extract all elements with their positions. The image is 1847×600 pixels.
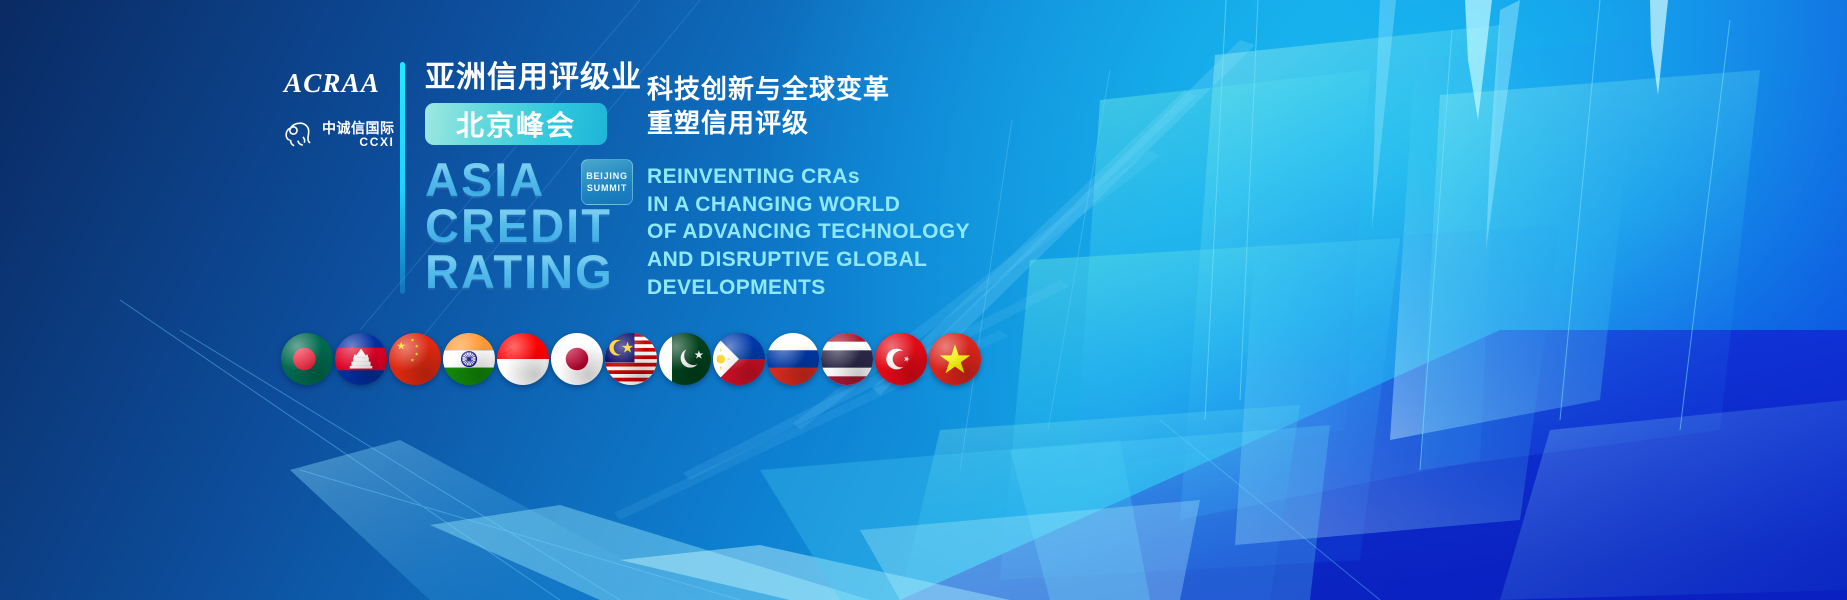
summit-badge-line2: SUMMIT <box>587 183 627 193</box>
elephant-logo-icon <box>284 121 316 149</box>
beijing-summit-pill-label: 北京峰会 <box>456 104 576 144</box>
flag-bangladesh <box>281 333 333 385</box>
flag-malaysia <box>605 333 657 385</box>
english-subtitle-line-3: OF ADVANCING TECHNOLOGY <box>647 218 970 246</box>
chinese-subtitle-line-1: 科技创新与全球变革 <box>647 72 970 106</box>
summit-badge-line1: BEIJING <box>586 171 628 181</box>
flag-thailand <box>821 333 873 385</box>
watermark-title: ASIA CREDIT RATING BEIJING SUMMIT <box>425 157 625 295</box>
flag-philippines <box>713 333 765 385</box>
english-subtitle-line-1: REINVENTING CRAs <box>647 163 970 191</box>
flag-turkey <box>875 333 927 385</box>
member-flags-row <box>281 333 981 385</box>
flag-china <box>389 333 441 385</box>
english-subtitle: REINVENTING CRAs IN A CHANGING WORLD OF … <box>647 163 970 303</box>
logo-column: ACRAA 中诚信国际 CCXI <box>284 70 404 149</box>
flag-cambodia <box>335 333 387 385</box>
beijing-summit-pill: 北京峰会 <box>425 103 607 145</box>
english-subtitle-line-5: DEVELOPMENTS <box>647 274 970 302</box>
event-banner: ACRAA 中诚信国际 CCXI 亚洲信用评级业 <box>0 0 1847 600</box>
ccxi-chinese-name: 中诚信国际 <box>322 121 395 136</box>
acraa-logo: ACRAA <box>284 70 404 97</box>
flag-russia <box>767 333 819 385</box>
watermark-line-rating: RATING <box>425 249 625 295</box>
english-subtitle-line-4: AND DISRUPTIVE GLOBAL <box>647 246 970 274</box>
chinese-main-title: 亚洲信用评级业 <box>425 62 625 94</box>
ccxi-text: 中诚信国际 CCXI <box>322 121 395 148</box>
ccxi-english-name: CCXI <box>322 136 395 149</box>
watermark-line-credit: CREDIT <box>425 203 625 249</box>
flag-indonesia <box>497 333 549 385</box>
summit-badge: BEIJING SUMMIT <box>581 159 633 205</box>
english-subtitle-line-2: IN A CHANGING WORLD <box>647 191 970 219</box>
flag-pakistan <box>659 333 711 385</box>
flag-vietnam <box>929 333 981 385</box>
subtitle-column: 科技创新与全球变革 重塑信用评级 REINVENTING CRAs IN A C… <box>647 72 970 302</box>
chinese-subtitle-line-2: 重塑信用评级 <box>647 106 970 140</box>
flag-india <box>443 333 495 385</box>
title-column: 亚洲信用评级业 北京峰会 ASIA CREDIT RATING BEIJING … <box>425 62 625 296</box>
ccxi-logo: 中诚信国际 CCXI <box>284 121 404 149</box>
vertical-divider <box>400 62 405 294</box>
flag-japan <box>551 333 603 385</box>
banner-content: ACRAA 中诚信国际 CCXI 亚洲信用评级业 <box>0 0 1847 600</box>
